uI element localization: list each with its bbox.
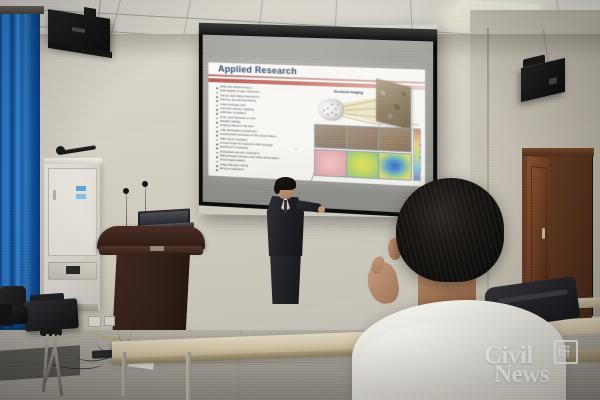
heatmap-caption: (c)	[390, 150, 392, 152]
cabinet-top	[44, 158, 102, 164]
imaging-target-texture	[376, 79, 411, 130]
bullet-dot-icon	[216, 113, 218, 115]
presenter-tie	[284, 200, 287, 213]
door-handle[interactable]	[542, 228, 545, 239]
desk-leg-2	[186, 352, 191, 400]
bullet-dot-icon	[216, 169, 218, 171]
heatmap-cell	[378, 127, 412, 153]
bullet-dot-icon	[216, 165, 218, 167]
heatmap-cell	[314, 124, 347, 150]
colorbar-label: Ohm-m	[412, 124, 419, 126]
heatmap-caption: (b)	[358, 148, 361, 150]
presenter-hair-side	[274, 183, 280, 194]
bullet-dot-icon	[216, 87, 218, 89]
bullet-dot-icon	[216, 135, 218, 137]
presenter-hand	[318, 206, 325, 213]
cabinet-label-sticker	[76, 186, 86, 191]
desk-leg-3	[122, 352, 126, 396]
heatmap-grid: (a) (b) (c)	[314, 124, 411, 181]
audience-shirt-fold	[360, 322, 540, 400]
bullet-dot-icon	[216, 92, 218, 94]
cabinet-label-sticker-2	[76, 194, 86, 199]
projected-slide: Applied Research GPR and LiDAR surveys S…	[208, 62, 425, 186]
presenter-legs	[270, 252, 301, 304]
microphone-stem	[126, 192, 127, 230]
bullet-dot-icon	[216, 109, 218, 111]
cabinet-vent-opening	[66, 266, 80, 274]
bullet-dot-icon	[216, 156, 218, 158]
photo-scene: Applied Research GPR and LiDAR surveys S…	[0, 0, 600, 400]
microphone-head-icon	[123, 188, 129, 194]
diagram-label: Electrical Imaging	[334, 90, 363, 95]
screen-surface: Applied Research GPR and LiDAR surveys S…	[203, 35, 434, 215]
door-header	[522, 148, 594, 156]
bullet-dot-icon	[216, 131, 218, 133]
heatmap-cell	[346, 125, 379, 151]
audience-hair-texture	[396, 178, 504, 282]
colorbar	[413, 128, 421, 181]
camera-lens-hood	[0, 304, 12, 326]
podium-nameplate	[150, 246, 164, 251]
curtain-folds	[2, 14, 32, 324]
slide-bullet-list: GPR and LiDAR surveys SAR satellite imag…	[216, 85, 310, 176]
bullet-dot-icon	[216, 122, 218, 124]
bullet-text: 3D grout detection	[220, 167, 244, 172]
antenna-mount	[56, 146, 65, 155]
bullet-dot-icon	[216, 100, 218, 102]
video-camera-body	[23, 298, 79, 332]
heatmap-cell	[346, 150, 379, 179]
pointer-tip	[295, 148, 297, 150]
cabinet-door[interactable]	[48, 168, 97, 256]
speaker-bracket-icon	[84, 7, 96, 18]
microphone-head-icon-2	[142, 181, 148, 187]
bullet-dot-icon	[216, 161, 218, 163]
cabinet-handle[interactable]	[53, 190, 56, 200]
heatmap-cell	[378, 152, 412, 181]
bullet-dot-icon	[216, 96, 218, 98]
curtain-rod	[0, 6, 44, 14]
projection-screen: Applied Research GPR and LiDAR surveys S…	[199, 24, 438, 217]
bullet-dot-icon	[216, 143, 218, 145]
sensor-array-cone	[318, 98, 344, 121]
bullet-dot-icon	[216, 148, 218, 150]
bullet-dot-icon	[216, 126, 218, 128]
